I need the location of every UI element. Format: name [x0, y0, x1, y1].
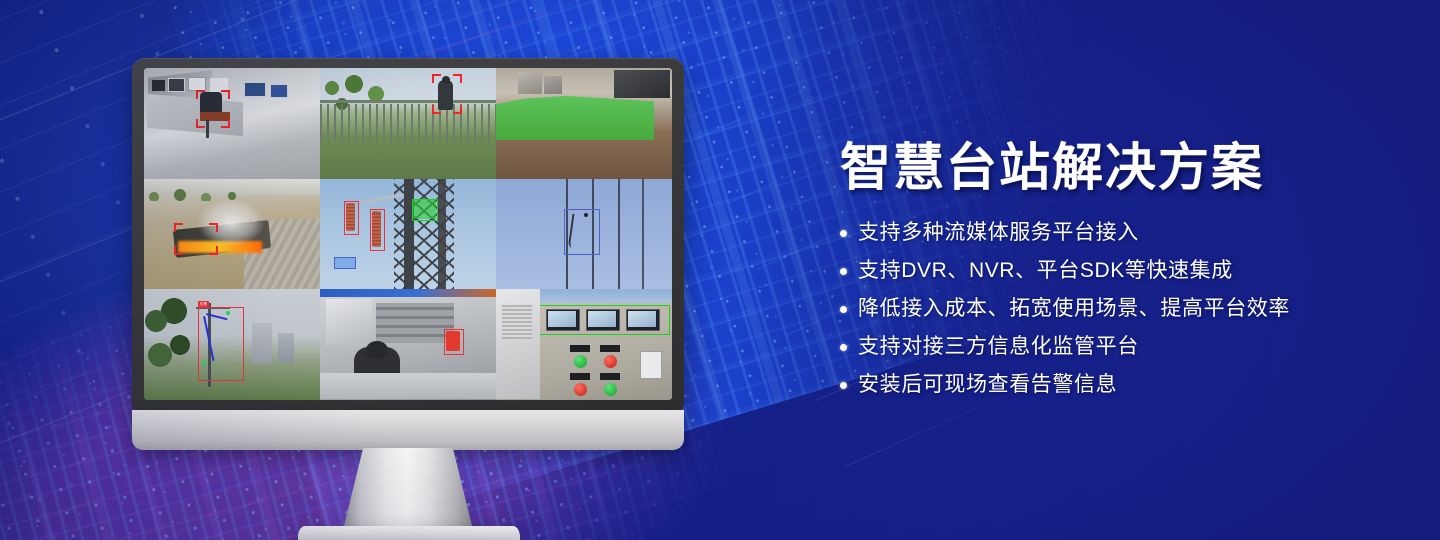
feature-text: 支持DVR、NVR、平台SDK等快速集成 [858, 252, 1233, 290]
bullet-dot-icon [840, 344, 847, 351]
banner-content: 智慧台站解决方案 支持多种流媒体服务平台接入 支持DVR、NVR、平台SDK等快… [840, 138, 1400, 404]
bullet-dot-icon [840, 268, 847, 275]
bullet-dot-icon [840, 230, 847, 237]
feature-text: 支持对接三方信息化监管平台 [858, 328, 1139, 366]
solution-banner: 告警 [0, 0, 1440, 540]
feature-text: 降低接入成本、拓宽使用场景、提高平台效率 [858, 290, 1290, 328]
feature-list-item-5: 安装后可现场查看告警信息 [840, 366, 1400, 404]
feature-text: 支持多种流媒体服务平台接入 [858, 214, 1139, 252]
feature-list: 支持多种流媒体服务平台接入 支持DVR、NVR、平台SDK等快速集成 降低接入成… [840, 214, 1400, 404]
feature-text: 安装后可现场查看告警信息 [858, 366, 1117, 404]
page-title: 智慧台站解决方案 [840, 138, 1400, 198]
feature-list-item-4: 支持对接三方信息化监管平台 [840, 328, 1400, 366]
bullet-dot-icon [840, 382, 847, 389]
feature-list-item-3: 降低接入成本、拓宽使用场景、提高平台效率 [840, 290, 1400, 328]
feature-list-item-1: 支持多种流媒体服务平台接入 [840, 214, 1400, 252]
bullet-dot-icon [840, 306, 847, 313]
feature-list-item-2: 支持DVR、NVR、平台SDK等快速集成 [840, 252, 1400, 290]
